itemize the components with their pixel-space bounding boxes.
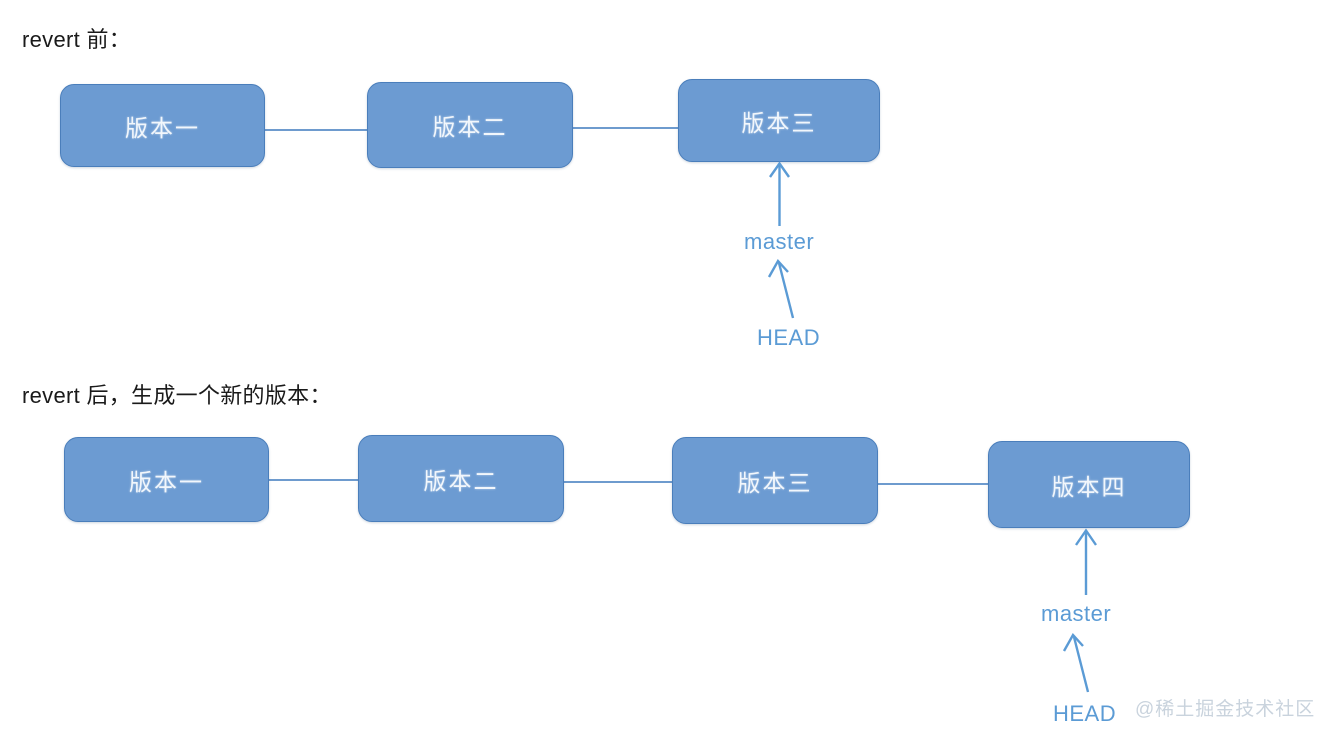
commit-box-before-1[interactable]: 版本一 [60, 84, 265, 167]
connector-v2-v3-before [571, 127, 681, 129]
commit-label-before-3: 版本三 [742, 104, 817, 138]
watermark-text: @稀土掘金技术社区 [1135, 694, 1315, 721]
connector-v1-v2-after [267, 479, 360, 481]
arrow-master-to-commit3-before [760, 160, 802, 226]
ref-label-head-after: HEAD [1053, 701, 1116, 727]
ref-label-master-before: master [744, 229, 814, 255]
commit-label-after-2: 版本二 [424, 462, 499, 496]
connector-v3-v4-after [876, 483, 990, 485]
commit-box-before-3[interactable]: 版本三 [678, 79, 880, 162]
connector-v2-v3-after [562, 481, 674, 483]
commit-label-after-4: 版本四 [1052, 468, 1127, 502]
diagram-canvas: revert 前： 版本一 版本二 版本三 master HEAD revert… [0, 0, 1320, 738]
commit-box-after-3[interactable]: 版本三 [672, 437, 878, 524]
commit-box-after-4[interactable]: 版本四 [988, 441, 1190, 528]
arrow-head-to-master-before [762, 258, 810, 320]
section-title-before-revert: revert 前： [22, 22, 131, 54]
commit-box-after-1[interactable]: 版本一 [64, 437, 269, 522]
commit-box-after-2[interactable]: 版本二 [358, 435, 564, 522]
arrow-master-to-commit4-after [1066, 527, 1108, 595]
commit-box-before-2[interactable]: 版本二 [367, 82, 573, 168]
arrow-head-to-master-after [1056, 632, 1106, 694]
ref-label-head-before: HEAD [757, 325, 820, 351]
ref-label-master-after: master [1041, 601, 1111, 627]
commit-label-before-2: 版本二 [433, 108, 508, 142]
section-title-after-revert: revert 后，生成一个新的版本： [22, 378, 332, 410]
commit-label-after-3: 版本三 [738, 464, 813, 498]
commit-label-before-1: 版本一 [125, 109, 200, 143]
commit-label-after-1: 版本一 [129, 463, 204, 497]
connector-v1-v2-before [263, 129, 369, 131]
